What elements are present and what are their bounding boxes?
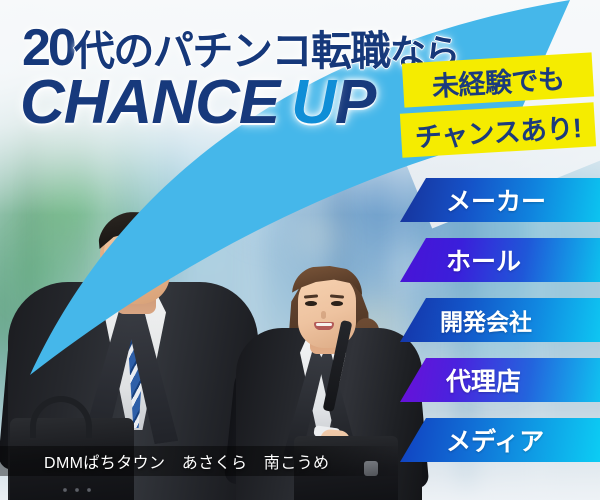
brand-logo-chance: CHANCE — [20, 68, 279, 137]
category-nav-list[interactable]: メーカー ホール 開発会社 代理店 メディア — [400, 178, 600, 462]
nav-button-media[interactable]: メディア — [400, 418, 600, 462]
nav-button-agency[interactable]: 代理店 — [400, 358, 600, 402]
photo-caption: DMMぱちタウン あさくら 南こうめ — [0, 446, 404, 476]
nav-button-maker[interactable]: メーカー — [400, 178, 600, 222]
nav-button-developer[interactable]: 開発会社 — [400, 298, 600, 342]
brand-logo: CHANCEUP — [20, 72, 375, 134]
man-briefcase-studs — [60, 487, 94, 494]
brand-logo-p: P — [335, 68, 375, 137]
nav-button-hall[interactable]: ホール — [400, 238, 600, 282]
banner-ad[interactable]: 20代のパチンコ転職なら CHANCEUP 未経験でも チャンスあり! メーカー… — [0, 0, 600, 500]
brand-logo-u: U — [291, 72, 335, 134]
